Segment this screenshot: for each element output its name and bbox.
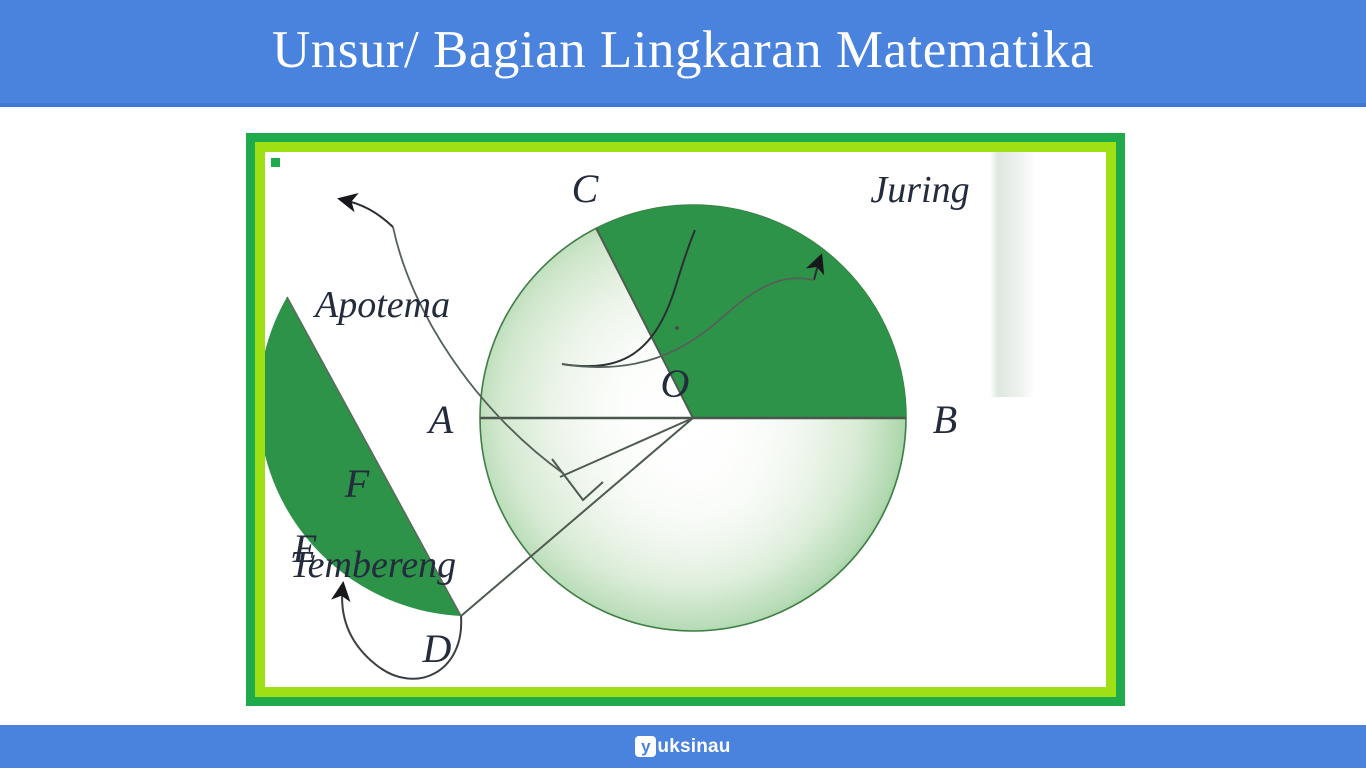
label-point-o: O	[661, 361, 690, 406]
label-point-f: F	[344, 461, 370, 506]
label-point-b: B	[933, 397, 957, 442]
callout-label-apotema: Apotema	[312, 284, 450, 326]
yuksinau-logo-mark: y	[635, 736, 656, 757]
callout-label-juring: Juring	[870, 169, 969, 211]
stray-dot-artifact	[675, 326, 679, 330]
slide-header: Unsur/ Bagian Lingkaran Matematika	[0, 0, 1366, 103]
figure-frame-inner: A B C D E F O Apotema Juring Tembereng	[255, 142, 1116, 697]
figure-frame-outer: A B C D E F O Apotema Juring Tembereng	[246, 133, 1125, 706]
label-point-d: D	[422, 626, 452, 671]
page-title: Unsur/ Bagian Lingkaran Matematika	[272, 24, 1094, 77]
slide-content-area: A B C D E F O Apotema Juring Tembereng	[0, 107, 1366, 725]
figure-canvas: A B C D E F O Apotema Juring Tembereng	[265, 152, 1106, 687]
apotema-arrow	[340, 199, 393, 227]
yuksinau-logo[interactable]: y uksinau	[635, 735, 730, 759]
frame-corner-marker	[271, 158, 280, 167]
slide-footer: y uksinau	[0, 725, 1366, 768]
slide-page: Unsur/ Bagian Lingkaran Matematika	[0, 0, 1366, 768]
label-point-c: C	[572, 166, 600, 211]
label-point-a: A	[426, 397, 454, 442]
circle-parts-diagram: A B C D E F O Apotema Juring Tembereng	[265, 152, 1106, 687]
callout-label-tembereng: Tembereng	[290, 544, 456, 586]
yuksinau-logo-text: uksinau	[657, 737, 730, 756]
